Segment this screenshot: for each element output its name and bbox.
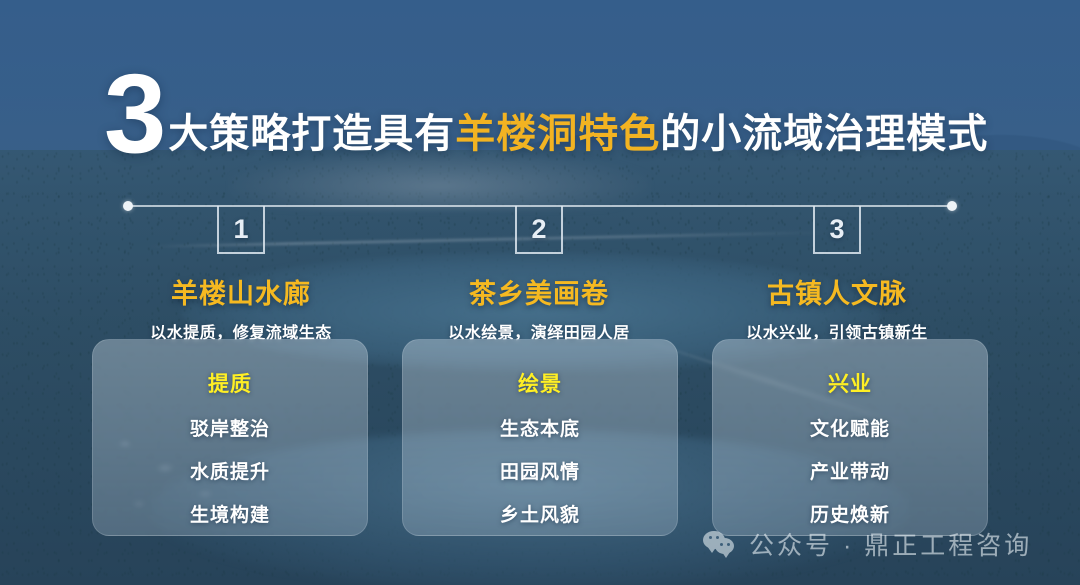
card-item: 生境构建 (190, 500, 270, 527)
card-title: 绘景 (518, 368, 562, 398)
strategy-column: 2 茶乡美画卷 以水绘景，演绎田园人居 (390, 206, 688, 343)
watermark-text: 公众号 · 鼎正工程咨询 (749, 526, 1032, 562)
strategy-number-badge: 3 (813, 206, 861, 254)
strategy-cards: 提质 驳岸整治 水质提升 生境构建 绘景 生态本底 田园风情 乡土风貌 兴业 文… (92, 339, 988, 536)
card-item: 产业带动 (810, 457, 890, 484)
watermark: 公众号 · 鼎正工程咨询 (703, 526, 1032, 562)
page-title: 3 大策略打造具有羊楼洞特色的小流域治理模式 (104, 62, 988, 165)
strategy-columns: 1 羊楼山水廊 以水提质，修复流域生态 2 茶乡美画卷 以水绘景，演绎田园人居 … (92, 206, 988, 343)
strategy-title: 羊楼山水廊 (171, 272, 311, 311)
card-item: 水质提升 (190, 457, 270, 484)
headline-text: 大策略打造具有羊楼洞特色的小流域治理模式 (168, 101, 988, 165)
card-item: 田园风情 (500, 457, 580, 484)
card-item: 历史焕新 (810, 500, 890, 527)
strategy-title: 古镇人文脉 (767, 272, 907, 311)
strategy-number-badge: 2 (515, 206, 563, 254)
presentation-slide: 3 大策略打造具有羊楼洞特色的小流域治理模式 1 羊楼山水廊 以水提质，修复流域… (0, 0, 1080, 585)
card-item: 文化赋能 (810, 414, 890, 441)
strategy-card: 兴业 文化赋能 产业带动 历史焕新 (712, 339, 988, 536)
strategy-number-badge: 1 (217, 206, 265, 254)
card-title: 提质 (208, 368, 252, 398)
card-title: 兴业 (828, 368, 872, 398)
headline-number: 3 (104, 62, 164, 165)
headline-part-before: 大策略打造具有 (168, 112, 455, 156)
slide-content: 3 大策略打造具有羊楼洞特色的小流域治理模式 1 羊楼山水廊 以水提质，修复流域… (0, 0, 1080, 585)
headline-part-after: 的小流域治理模式 (660, 112, 988, 156)
card-item: 乡土风貌 (500, 500, 580, 527)
card-item: 生态本底 (500, 414, 580, 441)
card-item: 驳岸整治 (190, 414, 270, 441)
headline-accent: 羊楼洞特色 (455, 112, 660, 156)
wechat-icon (703, 530, 737, 558)
strategy-card: 绘景 生态本底 田园风情 乡土风貌 (402, 339, 678, 536)
strategy-column: 1 羊楼山水廊 以水提质，修复流域生态 (92, 206, 390, 343)
strategy-column: 3 古镇人文脉 以水兴业，引领古镇新生 (688, 206, 986, 343)
strategy-card: 提质 驳岸整治 水质提升 生境构建 (92, 339, 368, 536)
strategy-title: 茶乡美画卷 (469, 272, 609, 311)
